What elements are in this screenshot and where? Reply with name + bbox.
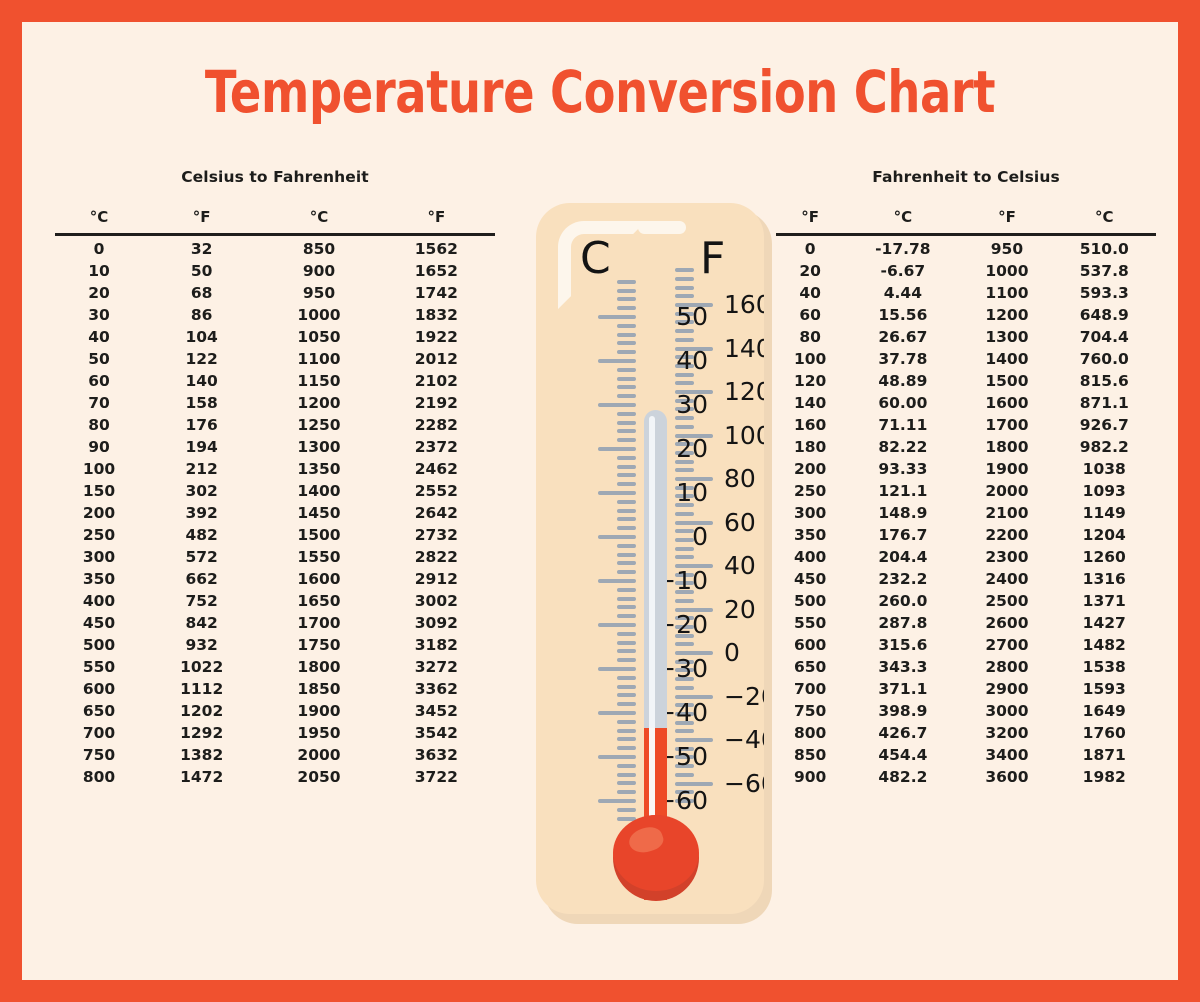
table-cell: 1371 xyxy=(1052,591,1156,613)
table-row: 800147220503722 xyxy=(55,767,495,789)
table-cell: 871.1 xyxy=(1052,393,1156,415)
table-cell: 50 xyxy=(143,261,260,283)
scale-label: 20 xyxy=(676,436,708,461)
table-row: 30057215502822 xyxy=(55,547,495,569)
page-title: Temperature Conversion Chart xyxy=(138,58,1063,126)
scale-tick-major xyxy=(598,535,636,539)
scale-tick-minor xyxy=(617,429,636,433)
table-cell: 50 xyxy=(55,349,143,371)
table-row: 600315.627001482 xyxy=(776,635,1156,657)
scale-tick-minor xyxy=(675,286,694,290)
table-cell: 600 xyxy=(776,635,844,657)
scale-label: 30 xyxy=(676,392,708,417)
table-cell: 148.9 xyxy=(844,503,961,525)
table-cell: 104 xyxy=(143,327,260,349)
scale-tick-minor xyxy=(617,641,636,645)
table-cell: 750 xyxy=(55,745,143,767)
scale-tick-minor xyxy=(617,350,636,354)
table-cell: 2100 xyxy=(961,503,1052,525)
celsius-to-fahrenheit-block: Celsius to Fahrenheit °C °F °C °F 032850… xyxy=(55,168,495,789)
scale-tick-minor xyxy=(617,482,636,486)
scale-tick-major xyxy=(598,755,636,759)
table-row: 40075216503002 xyxy=(55,591,495,613)
table-cell: 2822 xyxy=(378,547,495,569)
table-row: 300148.921001149 xyxy=(776,503,1156,525)
scale-tick-minor xyxy=(617,509,636,513)
scale-tick-minor xyxy=(617,632,636,636)
table-cell: 250 xyxy=(55,525,143,547)
table-row: 20093.3319001038 xyxy=(776,459,1156,481)
table-header-row: °F °C °F °C xyxy=(776,208,1156,235)
scale-tick-major xyxy=(598,667,636,671)
table-cell: 482.2 xyxy=(844,767,961,789)
table-cell: 315.6 xyxy=(844,635,961,657)
table-row: 20-6.671000537.8 xyxy=(776,261,1156,283)
table-cell: 950 xyxy=(961,235,1052,261)
table-cell: 1150 xyxy=(260,371,377,393)
table-cell: 26.67 xyxy=(844,327,961,349)
table-cell: 850 xyxy=(260,235,377,261)
table-cell: 700 xyxy=(55,723,143,745)
column-header: °C xyxy=(260,208,377,235)
scale-tick-minor xyxy=(617,773,636,777)
table-cell: 510.0 xyxy=(1052,235,1156,261)
bulb-surface xyxy=(613,815,699,891)
table-cell: 71.11 xyxy=(844,415,961,437)
table-row: 600111218503362 xyxy=(55,679,495,701)
scale-tick-minor xyxy=(617,553,636,557)
table-cell: 3362 xyxy=(378,679,495,701)
scale-tick-minor xyxy=(617,720,636,724)
table-cell: 80 xyxy=(776,327,844,349)
table-row: 500260.025001371 xyxy=(776,591,1156,613)
table-cell: 1750 xyxy=(260,635,377,657)
table-row: 10037.781400760.0 xyxy=(776,349,1156,371)
table-cell: 3000 xyxy=(961,701,1052,723)
scale-tick-major xyxy=(598,447,636,451)
table-header-row: °C °F °C °F xyxy=(55,208,495,235)
scale-tick-minor xyxy=(617,341,636,345)
table-cell: 140 xyxy=(143,371,260,393)
table-cell: 593.3 xyxy=(1052,283,1156,305)
table-cell: 600 xyxy=(55,679,143,701)
scale-label: 20 xyxy=(724,597,756,622)
scale-tick-minor xyxy=(617,412,636,416)
scale-tick-minor xyxy=(617,781,636,785)
scale-tick-minor xyxy=(675,729,694,733)
fahrenheit-to-celsius-table: °F °C °F °C 0-17.78950510.020-6.67100053… xyxy=(776,208,1156,789)
table-cell: 194 xyxy=(143,437,260,459)
table-cell: 2050 xyxy=(260,767,377,789)
table-cell: 0 xyxy=(55,235,143,261)
table-cell: 650 xyxy=(776,657,844,679)
table-row: 550102218003272 xyxy=(55,657,495,679)
table-cell: 1050 xyxy=(260,327,377,349)
table-row: 10509001652 xyxy=(55,261,495,283)
table-cell: 500 xyxy=(55,635,143,657)
scale-tick-minor xyxy=(617,544,636,548)
table-row: 750398.930001649 xyxy=(776,701,1156,723)
table-cell: 2102 xyxy=(378,371,495,393)
table-cell: 82.22 xyxy=(844,437,961,459)
table-cell: 426.7 xyxy=(844,723,961,745)
scale-label: −40 xyxy=(724,727,764,752)
table-cell: 1022 xyxy=(143,657,260,679)
table-cell: 3600 xyxy=(961,767,1052,789)
table-cell: 1202 xyxy=(143,701,260,723)
table-cell: 343.3 xyxy=(844,657,961,679)
fahrenheit-to-celsius-caption: Fahrenheit to Celsius xyxy=(776,168,1156,186)
table-cell: 1316 xyxy=(1052,569,1156,591)
table-row: 18082.221800982.2 xyxy=(776,437,1156,459)
table-cell: 371.1 xyxy=(844,679,961,701)
column-header: °C xyxy=(1052,208,1156,235)
table-cell: 2400 xyxy=(961,569,1052,591)
table-cell: 15.56 xyxy=(844,305,961,327)
scale-tick-minor xyxy=(617,570,636,574)
table-cell: 200 xyxy=(776,459,844,481)
table-cell: 40 xyxy=(55,327,143,349)
table-cell: 70 xyxy=(55,393,143,415)
column-header: °F xyxy=(961,208,1052,235)
table-cell: 800 xyxy=(776,723,844,745)
table-cell: 250 xyxy=(776,481,844,503)
table-row: 350176.722001204 xyxy=(776,525,1156,547)
scale-tick-minor xyxy=(617,605,636,609)
table-cell: 842 xyxy=(143,613,260,635)
table-cell: 1760 xyxy=(1052,723,1156,745)
scale-tick-minor xyxy=(675,268,694,272)
scale-tick-minor xyxy=(617,456,636,460)
scale-tick-minor xyxy=(617,289,636,293)
scale-tick-minor xyxy=(617,324,636,328)
table-cell: 2552 xyxy=(378,481,495,503)
table-cell: 20 xyxy=(55,283,143,305)
table-cell: 3452 xyxy=(378,701,495,723)
scale-tick-minor xyxy=(617,465,636,469)
scale-tick-minor xyxy=(617,394,636,398)
table-cell: 398.9 xyxy=(844,701,961,723)
scale-tick-minor xyxy=(617,561,636,565)
table-cell: 926.7 xyxy=(1052,415,1156,437)
table-cell: 3542 xyxy=(378,723,495,745)
table-cell: 1562 xyxy=(378,235,495,261)
scale-label: 50 xyxy=(676,304,708,329)
table-row: 250121.120001093 xyxy=(776,481,1156,503)
table-cell: 0 xyxy=(776,235,844,261)
table-cell: 450 xyxy=(55,613,143,635)
scale-label: −20 xyxy=(724,684,764,709)
table-cell: 815.6 xyxy=(1052,371,1156,393)
thermometer-body: C F 50403020100−10−20−30−40−50−60 160140… xyxy=(536,203,764,914)
table-cell: 450 xyxy=(776,569,844,591)
table-cell: 204.4 xyxy=(844,547,961,569)
scale-label: 40 xyxy=(724,553,756,578)
table-cell: 1950 xyxy=(260,723,377,745)
thermometer-bulb xyxy=(613,815,699,901)
table-cell: 1900 xyxy=(260,701,377,723)
table-cell: 2900 xyxy=(961,679,1052,701)
table-cell: 176 xyxy=(143,415,260,437)
table-row: 400204.423001260 xyxy=(776,547,1156,569)
table-cell: 1700 xyxy=(260,613,377,635)
column-header: °F xyxy=(378,208,495,235)
table-cell: 2800 xyxy=(961,657,1052,679)
scale-tick-minor xyxy=(675,512,694,516)
table-cell: 2200 xyxy=(961,525,1052,547)
table-cell: 2192 xyxy=(378,393,495,415)
scale-tick-minor xyxy=(617,421,636,425)
scale-tick-minor xyxy=(617,438,636,442)
table-cell: 1093 xyxy=(1052,481,1156,503)
table-row: 308610001832 xyxy=(55,305,495,327)
table-cell: 1649 xyxy=(1052,701,1156,723)
table-cell: 180 xyxy=(776,437,844,459)
table-cell: 302 xyxy=(143,481,260,503)
table-row: 4010410501922 xyxy=(55,327,495,349)
table-row: 16071.111700926.7 xyxy=(776,415,1156,437)
scale-tick-minor xyxy=(617,280,636,284)
table-row: 6014011502102 xyxy=(55,371,495,393)
table-cell: 1100 xyxy=(961,283,1052,305)
table-row: 7015812002192 xyxy=(55,393,495,415)
table-cell: 482 xyxy=(143,525,260,547)
scale-tick-major xyxy=(598,623,636,627)
table-cell: 1204 xyxy=(1052,525,1156,547)
table-cell: 2700 xyxy=(961,635,1052,657)
table-cell: 212 xyxy=(143,459,260,481)
table-cell: 392 xyxy=(143,503,260,525)
scale-tick-minor xyxy=(617,368,636,372)
column-header: °F xyxy=(776,208,844,235)
table-cell: 3092 xyxy=(378,613,495,635)
table-cell: 982.2 xyxy=(1052,437,1156,459)
table-cell: 2462 xyxy=(378,459,495,481)
table-cell: 1652 xyxy=(378,261,495,283)
table-cell: 400 xyxy=(776,547,844,569)
table-cell: 200 xyxy=(55,503,143,525)
table-cell: 1538 xyxy=(1052,657,1156,679)
table-cell: 950 xyxy=(260,283,377,305)
scale-label: 0 xyxy=(692,524,708,549)
table-cell: 400 xyxy=(55,591,143,613)
celsius-scale-ticks xyxy=(584,203,636,914)
table-cell: 287.8 xyxy=(844,613,961,635)
table-cell: 32 xyxy=(143,235,260,261)
table-cell: 900 xyxy=(260,261,377,283)
table-cell: 648.9 xyxy=(1052,305,1156,327)
scale-tick-minor xyxy=(617,746,636,750)
table-cell: -17.78 xyxy=(844,235,961,261)
table-cell: 1593 xyxy=(1052,679,1156,701)
table-cell: 48.89 xyxy=(844,371,961,393)
table-cell: 3182 xyxy=(378,635,495,657)
table-cell: 150 xyxy=(55,481,143,503)
table-cell: 1850 xyxy=(260,679,377,701)
scale-tick-minor xyxy=(675,642,694,646)
table-cell: 176.7 xyxy=(844,525,961,547)
table-cell: 2500 xyxy=(961,591,1052,613)
table-cell: 122 xyxy=(143,349,260,371)
table-cell: 700 xyxy=(776,679,844,701)
table-row: 50093217503182 xyxy=(55,635,495,657)
scale-tick-minor xyxy=(617,306,636,310)
table-row: 900482.236001982 xyxy=(776,767,1156,789)
scale-label: 120 xyxy=(724,379,764,404)
scale-tick-minor xyxy=(617,676,636,680)
scale-tick-minor xyxy=(617,702,636,706)
column-header: °C xyxy=(55,208,143,235)
table-cell: 140 xyxy=(776,393,844,415)
table-cell: 500 xyxy=(776,591,844,613)
table-cell: 300 xyxy=(55,547,143,569)
scale-tick-minor xyxy=(617,808,636,812)
table-cell: 1500 xyxy=(260,525,377,547)
table-cell: 537.8 xyxy=(1052,261,1156,283)
celsius-to-fahrenheit-body: 0328501562105090016522068950174230861000… xyxy=(55,235,495,789)
scale-label: 0 xyxy=(724,640,740,665)
table-cell: 1400 xyxy=(961,349,1052,371)
scale-tick-major xyxy=(675,782,713,786)
celsius-to-fahrenheit-table: °C °F °C °F 0328501562105090016522068950… xyxy=(55,208,495,789)
table-cell: 1260 xyxy=(1052,547,1156,569)
scale-tick-major xyxy=(598,359,636,363)
table-cell: 90 xyxy=(55,437,143,459)
table-cell: 1700 xyxy=(961,415,1052,437)
table-cell: 1300 xyxy=(961,327,1052,349)
scale-tick-minor xyxy=(617,385,636,389)
table-cell: 1742 xyxy=(378,283,495,305)
scale-tick-major xyxy=(598,491,636,495)
table-cell: 2012 xyxy=(378,349,495,371)
scale-label: 80 xyxy=(724,466,756,491)
table-cell: 30 xyxy=(55,305,143,327)
scale-tick-minor xyxy=(675,555,694,559)
table-cell: 1600 xyxy=(961,393,1052,415)
scale-tick-major xyxy=(598,579,636,583)
table-cell: 752 xyxy=(143,591,260,613)
table-cell: 2000 xyxy=(260,745,377,767)
table-row: 9019413002372 xyxy=(55,437,495,459)
scale-tick-minor xyxy=(617,500,636,504)
table-cell: 100 xyxy=(55,459,143,481)
table-cell: 120 xyxy=(776,371,844,393)
celsius-to-fahrenheit-caption: Celsius to Fahrenheit xyxy=(55,168,495,186)
table-cell: 300 xyxy=(776,503,844,525)
table-cell: 1550 xyxy=(260,547,377,569)
table-cell: 1427 xyxy=(1052,613,1156,635)
scale-tick-minor xyxy=(617,764,636,768)
table-cell: 1472 xyxy=(143,767,260,789)
table-cell: 3002 xyxy=(378,591,495,613)
table-cell: 572 xyxy=(143,547,260,569)
table-cell: 1149 xyxy=(1052,503,1156,525)
scale-label: 10 xyxy=(676,480,708,505)
table-row: 850454.434001871 xyxy=(776,745,1156,767)
table-cell: 4.44 xyxy=(844,283,961,305)
table-row: 14060.001600871.1 xyxy=(776,393,1156,415)
scale-tick-minor xyxy=(617,517,636,521)
scale-label: 100 xyxy=(724,423,764,448)
table-cell: 550 xyxy=(55,657,143,679)
table-cell: 2282 xyxy=(378,415,495,437)
scale-tick-minor xyxy=(617,333,636,337)
scale-label: −60 xyxy=(724,771,764,796)
table-cell: 3400 xyxy=(961,745,1052,767)
table-cell: 60 xyxy=(776,305,844,327)
scale-tick-minor xyxy=(675,773,694,777)
fahrenheit-to-celsius-body: 0-17.78950510.020-6.671000537.8404.44110… xyxy=(776,235,1156,789)
scale-tick-minor xyxy=(617,693,636,697)
table-cell: 750 xyxy=(776,701,844,723)
table-cell: 1300 xyxy=(260,437,377,459)
table-cell: 100 xyxy=(776,349,844,371)
scale-tick-minor xyxy=(675,381,694,385)
table-row: 12048.891500815.6 xyxy=(776,371,1156,393)
table-cell: 1200 xyxy=(961,305,1052,327)
scale-tick-minor xyxy=(617,737,636,741)
table-cell: 121.1 xyxy=(844,481,961,503)
table-cell: 3722 xyxy=(378,767,495,789)
table-cell: 1450 xyxy=(260,503,377,525)
table-cell: 1038 xyxy=(1052,459,1156,481)
table-cell: 158 xyxy=(143,393,260,415)
table-cell: 1382 xyxy=(143,745,260,767)
scale-tick-minor xyxy=(617,297,636,301)
scale-tick-minor xyxy=(675,277,694,281)
table-row: 650343.328001538 xyxy=(776,657,1156,679)
table-row: 8017612502282 xyxy=(55,415,495,437)
table-cell: 1400 xyxy=(260,481,377,503)
fahrenheit-to-celsius-block: Fahrenheit to Celsius °F °C °F °C 0-17.7… xyxy=(776,168,1156,789)
scale-tick-minor xyxy=(617,588,636,592)
table-row: 20039214502642 xyxy=(55,503,495,525)
table-row: 404.441100593.3 xyxy=(776,283,1156,305)
scale-label: 160 xyxy=(724,292,764,317)
table-row: 700371.129001593 xyxy=(776,679,1156,701)
table-cell: 932 xyxy=(143,635,260,657)
table-cell: 1800 xyxy=(961,437,1052,459)
table-cell: 260.0 xyxy=(844,591,961,613)
scale-tick-minor xyxy=(617,377,636,381)
scale-tick-minor xyxy=(617,790,636,794)
table-cell: 60.00 xyxy=(844,393,961,415)
scale-tick-minor xyxy=(617,473,636,477)
table-row: 25048215002732 xyxy=(55,525,495,547)
table-cell: 454.4 xyxy=(844,745,961,767)
thermometer-illustration: C F 50403020100−10−20−30−40−50−60 160140… xyxy=(530,200,778,926)
scale-tick-major xyxy=(598,315,636,319)
scale-tick-major xyxy=(598,403,636,407)
table-cell: 1250 xyxy=(260,415,377,437)
scale-label: 40 xyxy=(676,348,708,373)
table-cell: 1650 xyxy=(260,591,377,613)
scale-tick-minor xyxy=(675,294,694,298)
table-row: 8026.671300704.4 xyxy=(776,327,1156,349)
scale-tick-minor xyxy=(675,468,694,472)
table-cell: 1800 xyxy=(260,657,377,679)
scale-tick-minor xyxy=(675,686,694,690)
column-header: °C xyxy=(844,208,961,235)
scale-tick-minor xyxy=(617,649,636,653)
table-cell: 1500 xyxy=(961,371,1052,393)
table-cell: 2912 xyxy=(378,569,495,591)
table-cell: 1982 xyxy=(1052,767,1156,789)
scale-tick-major xyxy=(598,711,636,715)
table-cell: 1200 xyxy=(260,393,377,415)
table-cell: 350 xyxy=(776,525,844,547)
table-cell: 800 xyxy=(55,767,143,789)
